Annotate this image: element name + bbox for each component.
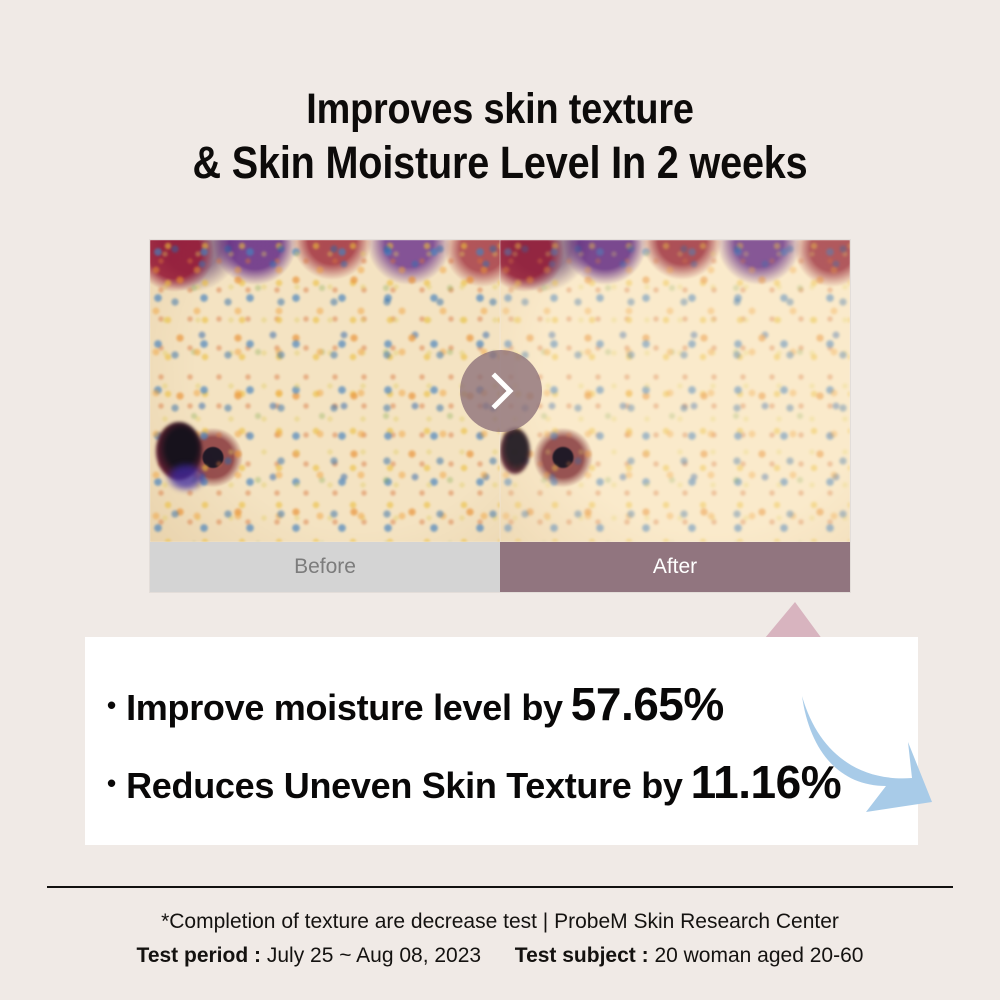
after-caption: After (500, 542, 850, 592)
test-subject-value: 20 woman aged 20-60 (654, 944, 863, 967)
claim-item-texture: •Reduces Uneven Skin Texture by11.16% (107, 755, 907, 809)
claim-item-moisture: •Improve moisture level by57.65% (107, 677, 907, 731)
footer-details: Test period : July 25 ~ Aug 08, 2023 Tes… (0, 940, 1000, 972)
test-period-label: Test period : (137, 944, 261, 967)
claim-value: 57.65% (571, 678, 724, 730)
before-caption: Before (150, 542, 500, 592)
chevron-right-icon (460, 350, 542, 432)
after-panel: After (500, 240, 850, 592)
test-subject-label: Test subject : (515, 944, 649, 967)
claims-card: •Improve moisture level by57.65% •Reduce… (85, 637, 918, 845)
footer: *Completion of texture are decrease test… (0, 906, 1000, 972)
footer-note: *Completion of texture are decrease test… (0, 906, 1000, 938)
skin-speckle-layer-b (150, 240, 500, 542)
after-skin-photo (500, 240, 850, 542)
skin-speckle-layer-b (500, 240, 850, 542)
claim-text: Reduces Uneven Skin Texture by (126, 765, 683, 806)
skin-blemish-icon (500, 428, 530, 474)
page-title: Improves skin texture & Skin Moisture Le… (60, 82, 940, 190)
bullet-icon: • (107, 768, 116, 799)
before-panel: Before (150, 240, 500, 592)
page-title-line-1: Improves skin texture (60, 82, 940, 136)
claim-text: Improve moisture level by (126, 687, 563, 728)
skin-blemish-halo (166, 462, 206, 492)
test-period-value: July 25 ~ Aug 08, 2023 (267, 944, 481, 967)
before-skin-photo (150, 240, 500, 542)
page-title-line-2: & Skin Moisture Level In 2 weeks (60, 136, 940, 190)
arrow-down-icon (800, 690, 935, 815)
bullet-icon: • (107, 690, 116, 721)
footer-divider (47, 886, 953, 888)
